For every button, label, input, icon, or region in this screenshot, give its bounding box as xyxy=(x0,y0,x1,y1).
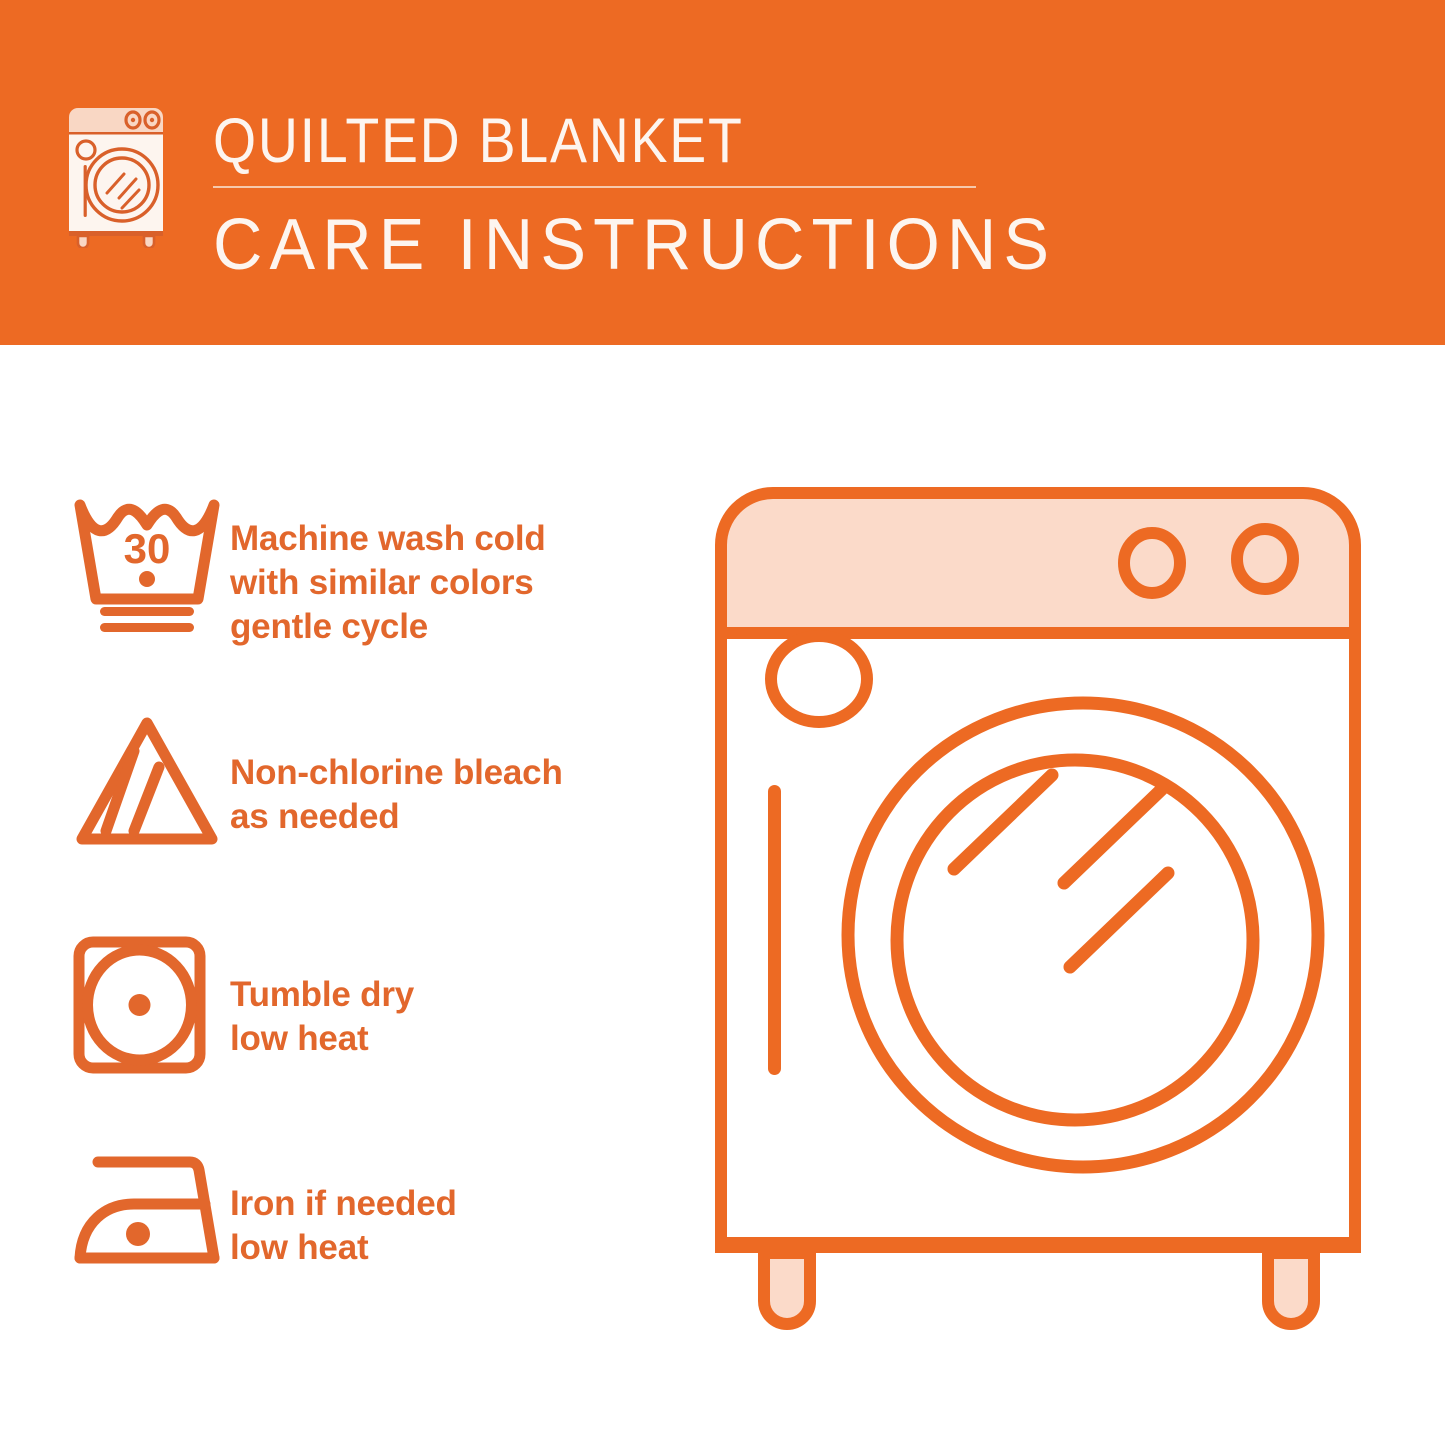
care-text-machine-wash: Machine wash cold with similar colors ge… xyxy=(230,495,700,649)
title-divider xyxy=(213,186,976,188)
care-row-bleach: Non-chlorine bleach as needed xyxy=(0,715,700,850)
header-text-block: QUILTED BLANKET CARE INSTRUCTIONS xyxy=(213,104,983,286)
wash-basin-30-icon: 30 xyxy=(0,495,230,640)
care-text-tumble-dry: Tumble dry low heat xyxy=(230,935,700,1061)
svg-text:30: 30 xyxy=(124,525,171,572)
non-chlorine-bleach-triangle-icon xyxy=(0,715,230,850)
care-row-tumble-dry: Tumble dry low heat xyxy=(0,935,700,1075)
header-band: QUILTED BLANKET CARE INSTRUCTIONS xyxy=(0,0,1445,345)
care-row-machine-wash: 30 Machine wash cold with similar colors… xyxy=(0,495,700,649)
page-subtitle: CARE INSTRUCTIONS xyxy=(213,204,945,286)
page-title: QUILTED BLANKET xyxy=(213,104,891,178)
care-instructions-infographic: QUILTED BLANKET CARE INSTRUCTIONS 30 xyxy=(0,0,1445,1445)
care-row-iron: Iron if needed low heat xyxy=(0,1150,700,1270)
care-text-bleach: Non-chlorine bleach as needed xyxy=(230,715,700,839)
washing-machine-icon xyxy=(64,103,184,248)
care-text-iron: Iron if needed low heat xyxy=(230,1150,700,1270)
iron-low-heat-icon xyxy=(0,1150,230,1270)
tumble-dry-low-icon xyxy=(0,935,230,1075)
washing-machine-illustration xyxy=(700,455,1410,1365)
